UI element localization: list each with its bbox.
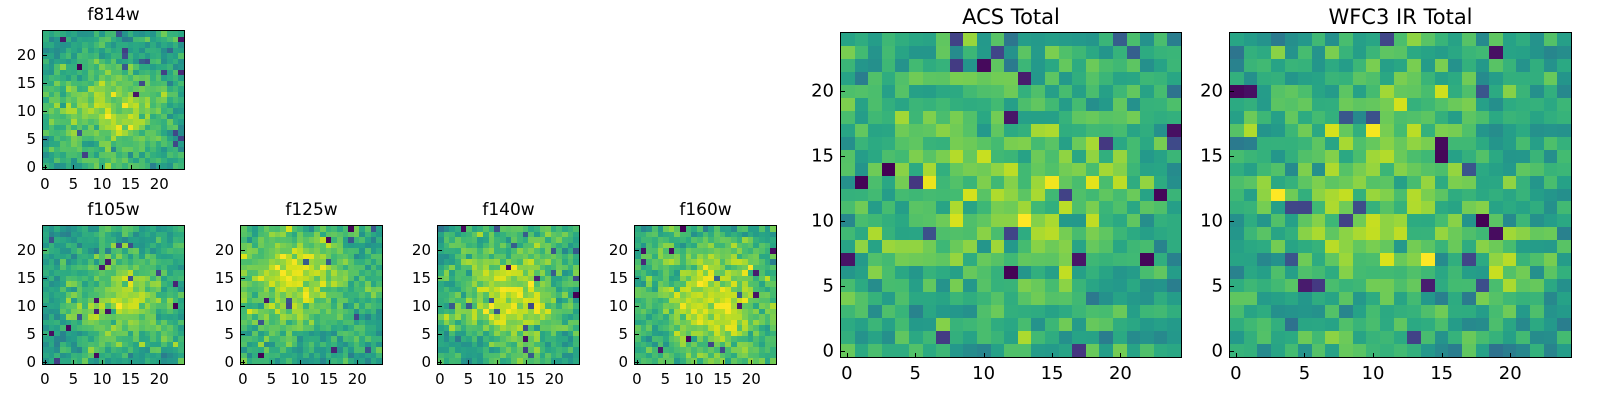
panel-wfc3-ir-total: WFC3 IR Total0510152005101520 (1183, 6, 1576, 388)
ytick-label-f814w-3: 15 (0, 74, 36, 92)
xtick-mark-f105w-0 (45, 360, 46, 365)
ytick-mark-f160w-4 (634, 250, 639, 251)
ytick-label-f160w-1: 5 (588, 325, 628, 343)
ytick-label-f105w-4: 20 (0, 241, 36, 259)
panel-title-f125w: f125w (240, 199, 383, 221)
xtick-label-f140w-2: 10 (488, 370, 507, 388)
ytick-label-f140w-2: 10 (391, 297, 431, 315)
heatmap-acs-total (840, 32, 1182, 358)
xtick-label-wfc3-ir-total-0: 0 (1230, 363, 1241, 384)
xtick-label-f814w-3: 15 (121, 175, 140, 193)
ytick-label-acs-total-0: 0 (794, 341, 834, 362)
xtick-label-f140w-0: 0 (435, 370, 445, 388)
xtick-label-acs-total-2: 10 (972, 363, 995, 384)
ytick-mark-f105w-3 (42, 278, 47, 279)
ytick-label-f125w-1: 5 (194, 325, 234, 343)
xtick-mark-f814w-4 (159, 165, 160, 170)
ytick-mark-f160w-3 (634, 278, 639, 279)
heatmap-grid-wfc3-ir-total (1230, 33, 1571, 357)
ytick-label-f814w-0: 0 (0, 158, 36, 176)
ytick-label-f160w-0: 0 (588, 353, 628, 371)
ytick-label-acs-total-2: 10 (794, 211, 834, 232)
ytick-label-f814w-2: 10 (0, 102, 36, 120)
xtick-mark-f160w-0 (637, 360, 638, 365)
xtick-mark-f125w-3 (329, 360, 330, 365)
xtick-label-f814w-4: 20 (150, 175, 169, 193)
ytick-mark-acs-total-1 (840, 286, 845, 287)
ytick-mark-f125w-1 (240, 334, 245, 335)
figure-canvas: f814w0510152005101520f105w05101520051015… (0, 0, 1600, 400)
xtick-mark-f814w-2 (102, 165, 103, 170)
ytick-mark-f105w-4 (42, 250, 47, 251)
xtick-mark-f160w-2 (694, 360, 695, 365)
ytick-label-acs-total-3: 15 (794, 145, 834, 166)
xtick-mark-acs-total-2 (984, 353, 985, 358)
xtick-mark-f140w-1 (468, 360, 469, 365)
ytick-mark-wfc3-ir-total-4 (1229, 91, 1234, 92)
xtick-label-f125w-3: 15 (319, 370, 338, 388)
xtick-label-f105w-2: 10 (93, 370, 112, 388)
panel-title-acs-total: ACS Total (840, 6, 1182, 28)
panel-title-f814w: f814w (42, 4, 185, 26)
xtick-mark-acs-total-3 (1052, 353, 1053, 358)
panel-title-f160w: f160w (634, 199, 777, 221)
xtick-mark-f160w-3 (723, 360, 724, 365)
ytick-mark-f140w-3 (437, 278, 442, 279)
ytick-mark-wfc3-ir-total-2 (1229, 221, 1234, 222)
ytick-mark-f125w-3 (240, 278, 245, 279)
ytick-label-f105w-1: 5 (0, 325, 36, 343)
ytick-mark-acs-total-4 (840, 91, 845, 92)
xtick-mark-f140w-3 (526, 360, 527, 365)
heatmap-grid-acs-total (841, 33, 1181, 357)
xtick-mark-f125w-1 (271, 360, 272, 365)
ytick-mark-acs-total-0 (840, 351, 845, 352)
ytick-mark-acs-total-2 (840, 221, 845, 222)
xtick-mark-f105w-4 (159, 360, 160, 365)
ytick-mark-f814w-1 (42, 139, 47, 140)
heatmap-grid-f160w (635, 226, 776, 364)
xtick-label-f125w-1: 5 (267, 370, 277, 388)
ytick-label-f140w-1: 5 (391, 325, 431, 343)
xtick-mark-wfc3-ir-total-2 (1373, 353, 1374, 358)
heatmap-grid-f814w (43, 31, 184, 169)
ytick-label-f125w-4: 20 (194, 241, 234, 259)
panel-acs-total: ACS Total0510152005101520 (794, 6, 1186, 388)
xtick-label-f140w-4: 20 (545, 370, 564, 388)
ytick-label-wfc3-ir-total-0: 0 (1183, 341, 1223, 362)
ytick-label-wfc3-ir-total-2: 10 (1183, 211, 1223, 232)
ytick-label-f160w-2: 10 (588, 297, 628, 315)
ytick-mark-f160w-2 (634, 306, 639, 307)
xtick-label-f160w-3: 15 (713, 370, 732, 388)
ytick-mark-wfc3-ir-total-0 (1229, 351, 1234, 352)
xtick-mark-f140w-0 (440, 360, 441, 365)
xtick-mark-f125w-4 (357, 360, 358, 365)
heatmap-grid-f125w (241, 226, 382, 364)
ytick-label-f140w-3: 15 (391, 269, 431, 287)
heatmap-grid-f105w (43, 226, 184, 364)
xtick-mark-f140w-2 (497, 360, 498, 365)
panel-title-f140w: f140w (437, 199, 580, 221)
xtick-label-f160w-1: 5 (661, 370, 671, 388)
heatmap-wfc3-ir-total (1229, 32, 1572, 358)
panel-f105w: f105w0510152005101520 (0, 199, 189, 395)
ytick-mark-f125w-4 (240, 250, 245, 251)
panel-title-f105w: f105w (42, 199, 185, 221)
xtick-label-f105w-3: 15 (121, 370, 140, 388)
panel-f160w: f160w0510152005101520 (588, 199, 781, 395)
heatmap-f125w (240, 225, 383, 365)
ytick-label-wfc3-ir-total-1: 5 (1183, 276, 1223, 297)
xtick-label-f814w-1: 5 (69, 175, 79, 193)
xtick-label-f125w-2: 10 (291, 370, 310, 388)
xtick-label-f140w-1: 5 (464, 370, 474, 388)
xtick-label-f105w-1: 5 (69, 370, 79, 388)
xtick-label-wfc3-ir-total-1: 5 (1299, 363, 1310, 384)
ytick-mark-f125w-2 (240, 306, 245, 307)
ytick-label-f814w-1: 5 (0, 130, 36, 148)
ytick-label-f140w-4: 20 (391, 241, 431, 259)
ytick-label-f105w-2: 10 (0, 297, 36, 315)
ytick-mark-f105w-2 (42, 306, 47, 307)
xtick-label-f160w-2: 10 (685, 370, 704, 388)
xtick-label-f125w-4: 20 (348, 370, 367, 388)
xtick-mark-f140w-4 (554, 360, 555, 365)
xtick-label-f125w-0: 0 (238, 370, 248, 388)
ytick-mark-wfc3-ir-total-1 (1229, 286, 1234, 287)
xtick-label-wfc3-ir-total-2: 10 (1362, 363, 1385, 384)
ytick-label-wfc3-ir-total-4: 20 (1183, 80, 1223, 101)
ytick-mark-f814w-4 (42, 55, 47, 56)
xtick-mark-f125w-2 (300, 360, 301, 365)
panel-title-wfc3-ir-total: WFC3 IR Total (1229, 6, 1572, 28)
xtick-mark-acs-total-1 (915, 353, 916, 358)
ytick-label-wfc3-ir-total-3: 15 (1183, 145, 1223, 166)
xtick-label-wfc3-ir-total-3: 15 (1430, 363, 1453, 384)
xtick-mark-wfc3-ir-total-1 (1304, 353, 1305, 358)
ytick-label-acs-total-1: 5 (794, 276, 834, 297)
xtick-mark-f160w-4 (751, 360, 752, 365)
ytick-label-f814w-4: 20 (0, 46, 36, 64)
ytick-mark-acs-total-3 (840, 156, 845, 157)
heatmap-f814w (42, 30, 185, 170)
ytick-mark-f814w-2 (42, 111, 47, 112)
xtick-label-f814w-2: 10 (93, 175, 112, 193)
ytick-mark-f140w-1 (437, 334, 442, 335)
xtick-mark-f125w-0 (243, 360, 244, 365)
ytick-label-acs-total-4: 20 (794, 80, 834, 101)
panel-f814w: f814w0510152005101520 (0, 4, 189, 200)
xtick-label-wfc3-ir-total-4: 20 (1499, 363, 1522, 384)
xtick-mark-wfc3-ir-total-0 (1236, 353, 1237, 358)
ytick-label-f160w-4: 20 (588, 241, 628, 259)
xtick-label-f105w-4: 20 (150, 370, 169, 388)
heatmap-f140w (437, 225, 580, 365)
xtick-label-f140w-3: 15 (516, 370, 535, 388)
ytick-label-f140w-0: 0 (391, 353, 431, 371)
xtick-mark-acs-total-4 (1120, 353, 1121, 358)
xtick-mark-f814w-1 (73, 165, 74, 170)
xtick-mark-f105w-3 (131, 360, 132, 365)
xtick-label-f814w-0: 0 (40, 175, 50, 193)
heatmap-f160w (634, 225, 777, 365)
xtick-label-f160w-4: 20 (742, 370, 761, 388)
ytick-mark-f814w-3 (42, 83, 47, 84)
heatmap-grid-f140w (438, 226, 579, 364)
ytick-label-f125w-3: 15 (194, 269, 234, 287)
ytick-label-f125w-0: 0 (194, 353, 234, 371)
xtick-mark-f814w-0 (45, 165, 46, 170)
ytick-mark-f105w-1 (42, 334, 47, 335)
xtick-label-acs-total-3: 15 (1041, 363, 1064, 384)
ytick-mark-f140w-2 (437, 306, 442, 307)
heatmap-f105w (42, 225, 185, 365)
xtick-label-f160w-0: 0 (632, 370, 642, 388)
xtick-mark-wfc3-ir-total-4 (1510, 353, 1511, 358)
xtick-mark-f105w-2 (102, 360, 103, 365)
ytick-mark-f160w-1 (634, 334, 639, 335)
xtick-label-acs-total-0: 0 (841, 363, 852, 384)
ytick-label-f160w-3: 15 (588, 269, 628, 287)
ytick-label-f105w-0: 0 (0, 353, 36, 371)
ytick-label-f125w-2: 10 (194, 297, 234, 315)
ytick-mark-f140w-4 (437, 250, 442, 251)
ytick-label-f105w-3: 15 (0, 269, 36, 287)
xtick-label-acs-total-1: 5 (910, 363, 921, 384)
ytick-mark-wfc3-ir-total-3 (1229, 156, 1234, 157)
xtick-mark-wfc3-ir-total-3 (1442, 353, 1443, 358)
panel-f125w: f125w0510152005101520 (194, 199, 387, 395)
xtick-label-f105w-0: 0 (40, 370, 50, 388)
xtick-mark-f160w-1 (665, 360, 666, 365)
xtick-mark-acs-total-0 (847, 353, 848, 358)
xtick-mark-f105w-1 (73, 360, 74, 365)
panel-f140w: f140w0510152005101520 (391, 199, 584, 395)
xtick-mark-f814w-3 (131, 165, 132, 170)
xtick-label-acs-total-4: 20 (1109, 363, 1132, 384)
